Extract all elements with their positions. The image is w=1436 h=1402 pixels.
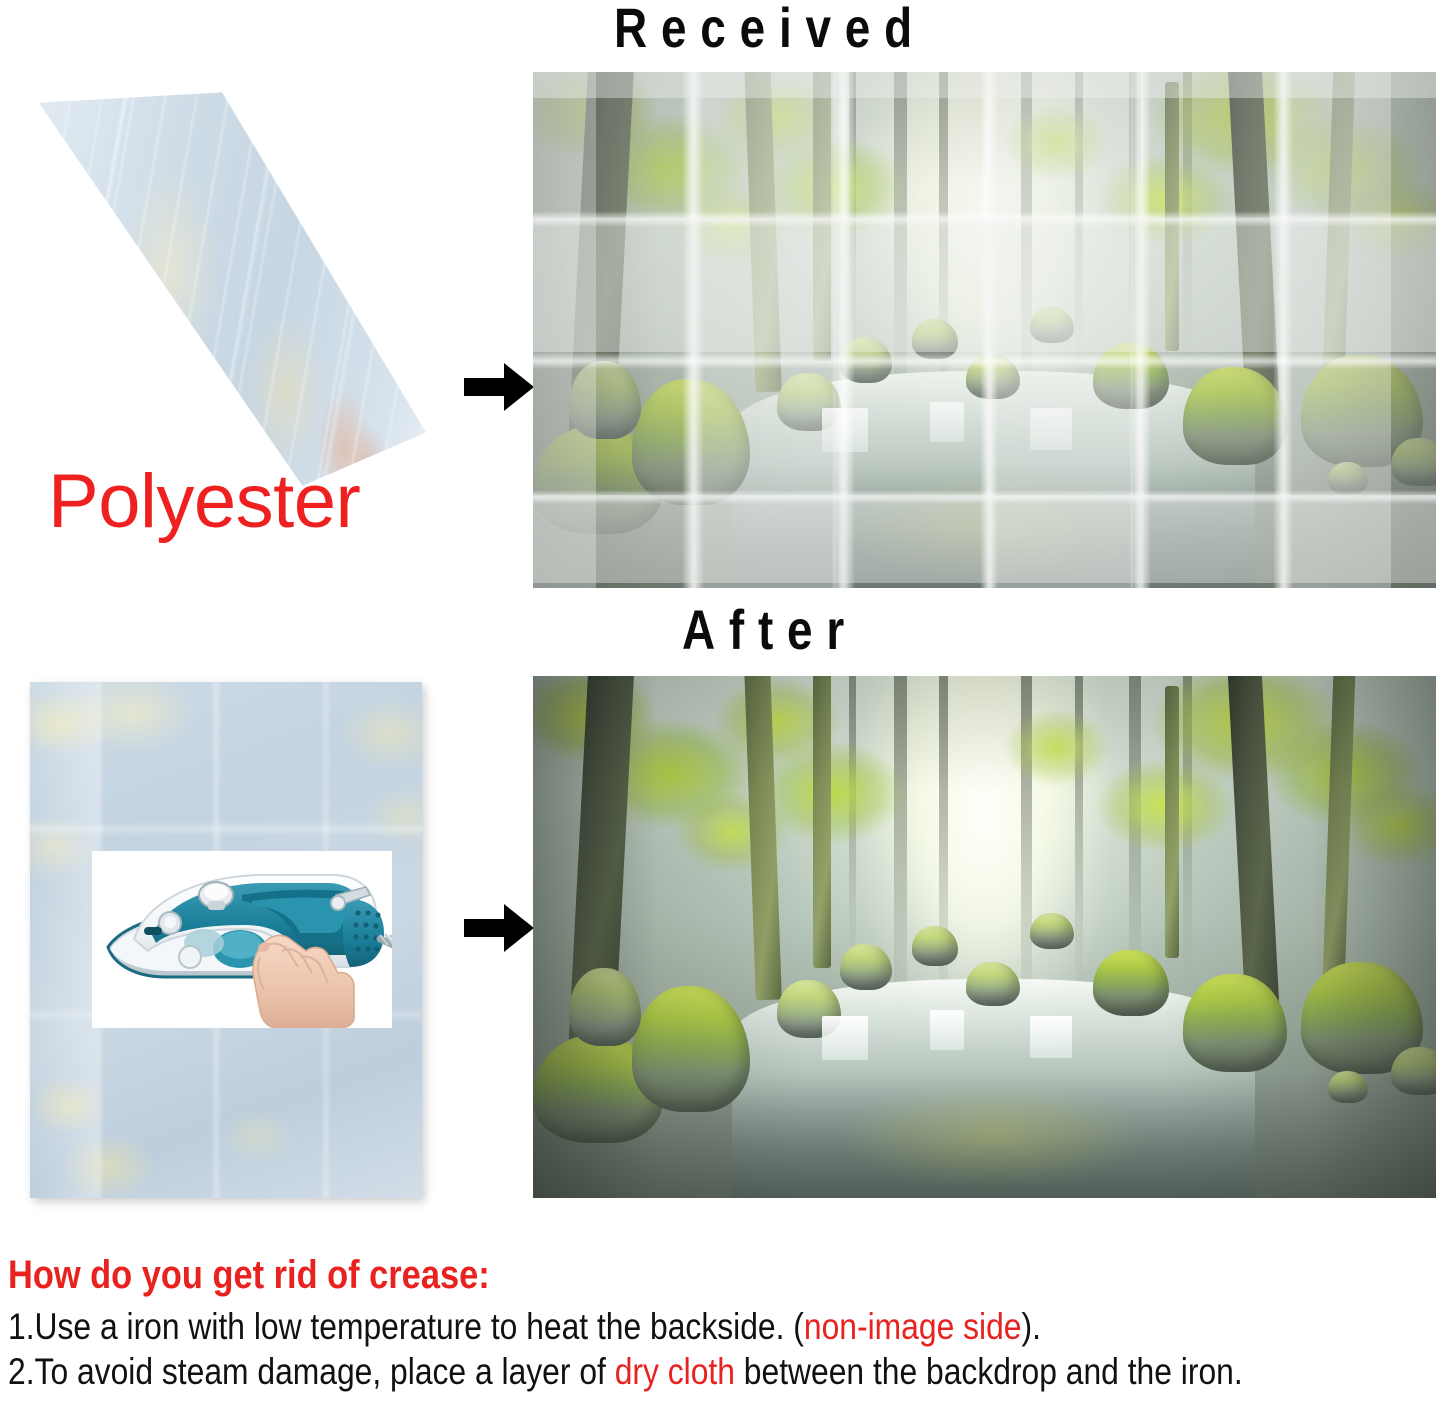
care-heading: How do you get rid of crease: — [8, 1252, 1236, 1298]
care-step-2: 2.To avoid steam damage, place a layer o… — [8, 1349, 1236, 1394]
care-instructions: How do you get rid of crease: 1.Use a ir… — [8, 1252, 1436, 1394]
care-step-1-text-after: ). — [1021, 1306, 1040, 1347]
fabric-crease-lines — [14, 78, 426, 490]
care-step-1-number: 1. — [8, 1306, 35, 1347]
received-backdrop-image — [533, 72, 1436, 588]
folded-fabric-swatch — [14, 78, 426, 490]
after-section-title: After — [598, 600, 942, 660]
infographic-canvas: Received Polyester — [0, 0, 1436, 1402]
care-step-2-text-before: To avoid steam damage, place a layer of — [35, 1351, 615, 1392]
polyester-material-label: Polyester — [48, 460, 360, 544]
arrow-right-icon — [462, 359, 536, 415]
forest-vignette — [533, 676, 1436, 1198]
care-step-2-highlight: dry cloth — [615, 1351, 735, 1392]
care-step-1-text-before: Use a iron with low temperature to heat … — [35, 1306, 804, 1347]
after-backdrop-image — [533, 676, 1436, 1198]
ironing-demo-photo — [92, 851, 392, 1028]
steam-iron-icon — [92, 851, 392, 1028]
care-step-1: 1.Use a iron with low temperature to hea… — [8, 1304, 1236, 1349]
received-faded-wash — [533, 72, 1436, 588]
arrow-right-icon — [462, 900, 536, 956]
care-step-2-number: 2. — [8, 1351, 35, 1392]
received-section-title: Received — [540, 0, 999, 58]
care-step-2-text-after: between the backdrop and the iron. — [735, 1351, 1243, 1392]
care-step-1-highlight: non-image side — [804, 1306, 1022, 1347]
